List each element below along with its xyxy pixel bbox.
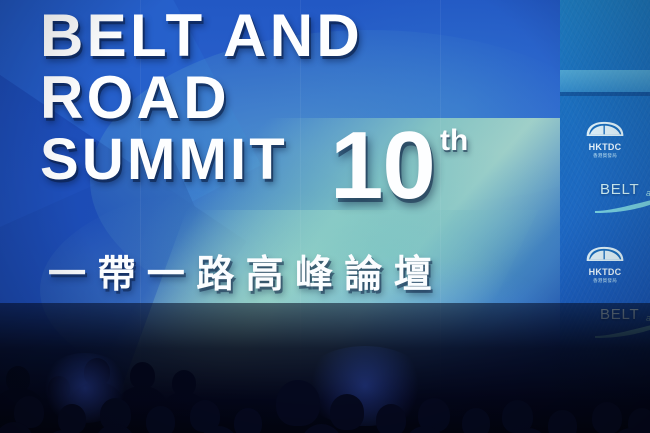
edition-ordinal-suffix: th — [440, 124, 468, 158]
hktdc-logo: HKTDC 香港貿發局 — [579, 120, 631, 159]
audience-head — [592, 402, 622, 433]
audience-head — [548, 410, 577, 433]
audience-foreground — [0, 258, 650, 433]
headline-line-1: BELT AND — [40, 8, 540, 64]
backdrop-headline: BELT AND ROAD SUMMIT — [40, 8, 540, 187]
audience-head — [234, 408, 262, 433]
audience-head — [58, 404, 86, 433]
hktdc-logo-text: HKTDC — [579, 143, 631, 152]
edition-number: 10 — [330, 112, 435, 219]
audience-head — [276, 380, 320, 426]
belt-swoosh-icon — [594, 194, 650, 214]
side-banner-light-band — [560, 70, 650, 92]
side-banner-dark-line — [560, 92, 650, 96]
screenshot-stage: BELT AND ROAD SUMMIT 10 th 一帶一路高峰論壇 HKTD… — [0, 0, 650, 433]
edition-number-lockup: 10 th — [330, 118, 435, 223]
hktdc-logo-chinese: 香港貿發局 — [579, 153, 631, 159]
audience-head — [376, 404, 406, 433]
stage-light-glow — [300, 346, 430, 426]
audience-head — [462, 408, 490, 433]
hktdc-wing-icon — [585, 120, 625, 137]
audience-head — [146, 406, 175, 433]
belt-and-lockup: BELT and — [594, 181, 650, 213]
headline-line-2: ROAD — [40, 70, 540, 126]
audience-head — [330, 394, 364, 430]
